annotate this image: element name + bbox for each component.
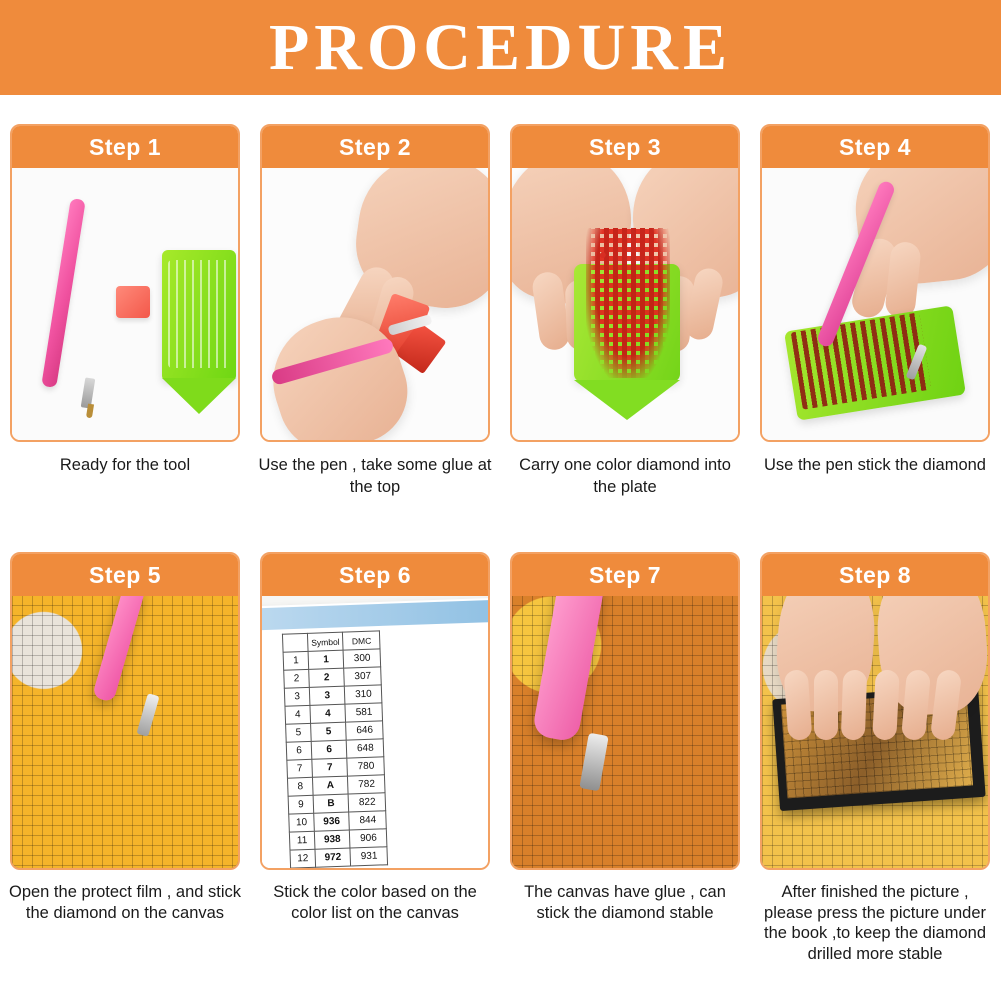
step-title-8: Step 8	[762, 554, 988, 596]
hands-dipping-pen-in-glue-photo	[262, 168, 488, 440]
step-title-2: Step 2	[262, 126, 488, 168]
step-title-6: Step 6	[262, 554, 488, 596]
finger-icon	[814, 670, 838, 740]
table-row: 12972931	[290, 847, 388, 868]
step-caption-3: Carry one color diamond into the plate	[506, 454, 744, 499]
step-cell-7: Step 7 The canvas have glue , can stick …	[500, 552, 750, 997]
step-caption-4: Use the pen stick the diamond	[756, 454, 994, 476]
finger-icon	[841, 670, 867, 741]
pen-picking-diamond-from-tray-photo	[762, 168, 988, 440]
step-card-8: Step 8	[760, 552, 990, 870]
pen-wax-and-tray-photo	[12, 168, 238, 440]
step-caption-5: Open the protect film , and stick the di…	[6, 882, 244, 923]
header-banner: PROCEDURE	[0, 0, 1001, 95]
color-list-chart-photo: Symbol DMC 11300 22307 33310 44581 55646…	[262, 596, 488, 868]
step-card-2: Step 2	[260, 124, 490, 442]
step-image-7	[512, 596, 738, 868]
step-card-1: Step 1	[10, 124, 240, 442]
page-title: PROCEDURE	[269, 15, 732, 81]
step-title-5: Step 5	[12, 554, 238, 596]
step-caption-7: The canvas have glue , can stick the dia…	[506, 882, 744, 923]
step-title-7: Step 7	[512, 554, 738, 596]
step-caption-8: After finished the picture , please pres…	[756, 882, 994, 965]
red-diamond-drills-icon	[586, 228, 670, 378]
diamond-pen-icon	[41, 198, 86, 388]
pouring-red-diamonds-into-tray-photo	[512, 168, 738, 440]
step-cell-1: Step 1 Ready for the tool	[0, 124, 250, 569]
step-cell-5: Step 5 Open the protect film , and stick…	[0, 552, 250, 997]
step-image-6: Symbol DMC 11300 22307 33310 44581 55646…	[262, 596, 488, 868]
tray-grooves-icon	[168, 260, 230, 368]
step-cell-3: Step 3 Carry on	[500, 124, 750, 569]
finger-icon	[784, 669, 813, 741]
pen-pressing-diamond-on-canvas-photo	[512, 596, 738, 868]
hands-pressing-book-on-canvas-photo	[762, 596, 988, 868]
step-title-3: Step 3	[512, 126, 738, 168]
step-image-1	[12, 168, 238, 440]
step-image-2	[262, 168, 488, 440]
step-cell-6: Step 6 Symbol DMC 11300	[250, 552, 500, 997]
step-card-7: Step 7	[510, 552, 740, 870]
step-title-4: Step 4	[762, 126, 988, 168]
step-cell-2: Step 2 Use the	[250, 124, 500, 569]
step-image-5	[12, 596, 238, 868]
step-caption-1: Ready for the tool	[6, 454, 244, 476]
col-header-symbol: Symbol	[307, 632, 343, 651]
step-card-6: Step 6 Symbol DMC 11300	[260, 552, 490, 870]
step-cell-8: Step 8	[750, 552, 1000, 997]
step-card-4: Step 4	[760, 124, 990, 442]
steps-grid: Step 1 Ready for the tool	[0, 95, 1001, 1001]
step-image-3	[512, 168, 738, 440]
step-caption-6: Stick the color based on the color list …	[256, 882, 494, 923]
step-card-5: Step 5	[10, 552, 240, 870]
step-image-4	[762, 168, 988, 440]
col-header-no	[282, 633, 308, 652]
steps-row-2: Step 5 Open the protect film , and stick…	[0, 552, 1001, 997]
pen-over-sunflower-canvas-photo	[12, 596, 238, 868]
step-card-3: Step 3	[510, 124, 740, 442]
pen-nib-icon	[86, 404, 94, 419]
procedure-infographic: PROCEDURE Step 1	[0, 0, 1001, 1001]
step-caption-2: Use the pen , take some glue at the top	[256, 454, 494, 499]
glue-wax-square-icon	[116, 286, 150, 318]
color-list-table: Symbol DMC 11300 22307 33310 44581 55646…	[282, 630, 388, 868]
steps-row-1: Step 1 Ready for the tool	[0, 124, 1001, 569]
col-header-dmc: DMC	[343, 631, 381, 650]
finger-icon	[872, 669, 900, 740]
step-image-8	[762, 596, 988, 868]
step-cell-4: Step 4 Use the pen stick the d	[750, 124, 1000, 569]
step-title-1: Step 1	[12, 126, 238, 168]
